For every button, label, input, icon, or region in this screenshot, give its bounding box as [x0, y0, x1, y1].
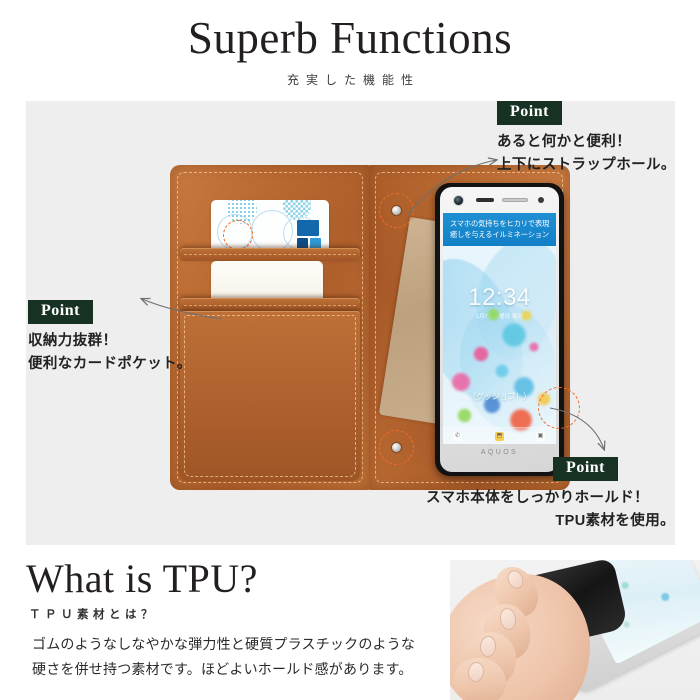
stitching-pocket-1 [184, 254, 356, 255]
card-pocket-highlight-ring [223, 220, 253, 250]
screen-dock[interactable]: ✆ ⬒ ▣ [443, 427, 556, 444]
tpu-body-line-2: 硬さを併せ持つ素材です。ほどよいホールド感があります。 [32, 657, 437, 682]
bokeh-cyan-2 [495, 364, 509, 378]
bokeh-yellow-1 [521, 310, 532, 321]
banner-line-1: スマホの気持ちをヒカリで表現 [443, 219, 556, 230]
callout-strap-hole: Point あると何かと便利！ 上下にストラップホール。 [497, 101, 675, 178]
bokeh-cyan-1 [501, 322, 527, 348]
tpu-subtitle: ＴＰＵ素材とは？ [29, 606, 157, 622]
bokeh-pink-1 [529, 342, 539, 352]
stitching-deep-pocket [184, 315, 356, 477]
phone-device: スマホの気持ちをヒカリで表現 癒しを与えるイルミネーション 12:34 1月7日… [435, 183, 564, 476]
callout-card-pocket: Point 収納力抜群！ 便利なカードポケット。 [28, 300, 208, 377]
phone-brand-label: AQUOS [440, 449, 559, 456]
callout-strap-line-2: 上下にストラップホール。 [497, 154, 675, 177]
callout-tpu-hold: Point スマホ本体をしっかりホールド！ TPU素材を使用。 [426, 457, 675, 534]
callout-pocket-line-1: 収納力抜群！ [28, 330, 208, 353]
tpu-explanation-section: What is TPU? ＴＰＵ素材とは？ ゴムのようなしなやかな弾力性と硬質プ… [0, 556, 700, 700]
sample-card-graphic [211, 200, 329, 252]
tpu-body-text: ゴムのようなしなやかな弾力性と硬質プラスチックのような 硬さを併せ持つ素材です。… [32, 632, 437, 681]
bokeh-green-2 [457, 408, 472, 423]
point-badge-strap: Point [497, 101, 562, 125]
callout-strap-line-1: あると何かと便利！ [497, 131, 675, 154]
screen-banner: スマホの気持ちをヒカリで表現 癒しを与えるイルミネーション [443, 213, 556, 246]
earpiece-speaker [476, 198, 494, 202]
tpu-body-line-1: ゴムのようなしなやかな弾力性と硬質プラスチックのような [32, 632, 437, 657]
feature-panel: スマホの気持ちをヒカリで表現 癒しを与えるイルミネーション 12:34 1月7日… [26, 101, 675, 545]
page-title: Superb Functions [0, 0, 700, 61]
banner-line-2: 癒しを与えるイルミネーション [443, 230, 556, 241]
hand-holding-case-photo [450, 560, 700, 700]
phone-bezel: スマホの気持ちをヒカリで表現 癒しを与えるイルミネーション 12:34 1月7日… [440, 187, 559, 472]
lockscreen-clock: 12:34 [443, 284, 556, 312]
phone-top-sensors [440, 187, 559, 213]
point-badge-tpu: Point [553, 457, 618, 481]
lock-dock-icon[interactable]: ⬒ [495, 432, 504, 441]
front-camera-icon [453, 195, 464, 206]
phone-dock-icon[interactable]: ✆ [453, 432, 462, 441]
page-header: Superb Functions 充実した機能性 [0, 0, 700, 100]
card-block-1 [297, 220, 319, 236]
notification-led-icon [538, 197, 544, 203]
camera-dock-icon[interactable]: ▣ [536, 432, 545, 441]
stitching-pocket-2 [184, 305, 356, 306]
callout-pocket-line-2: 便利なカードポケット。 [28, 353, 208, 376]
callout-tpu-line-1: スマホ本体をしっかりホールド！ [426, 487, 675, 510]
bokeh-pink-3 [451, 372, 471, 392]
strap-hole-bottom-highlight [379, 430, 414, 465]
tpu-title: What is TPU? [26, 558, 258, 600]
product-photo-wallet-case: スマホの気持ちをヒカリで表現 癒しを与えるイルミネーション 12:34 1月7日… [170, 165, 570, 490]
side-fleck-4 [623, 621, 631, 629]
side-fleck-3 [660, 592, 671, 603]
tpu-hold-highlight-ring [538, 387, 580, 429]
bokeh-pink-2 [473, 346, 489, 362]
blank-card [211, 261, 323, 303]
bokeh-green-1 [487, 308, 500, 321]
sensor-slot [502, 198, 528, 202]
page-subtitle: 充実した機能性 [0, 61, 700, 88]
callout-tpu-line-2: TPU素材を使用。 [426, 510, 675, 533]
point-badge-pocket: Point [28, 300, 93, 324]
side-fleck-2 [620, 581, 629, 590]
strap-hole-top-highlight [379, 193, 414, 228]
